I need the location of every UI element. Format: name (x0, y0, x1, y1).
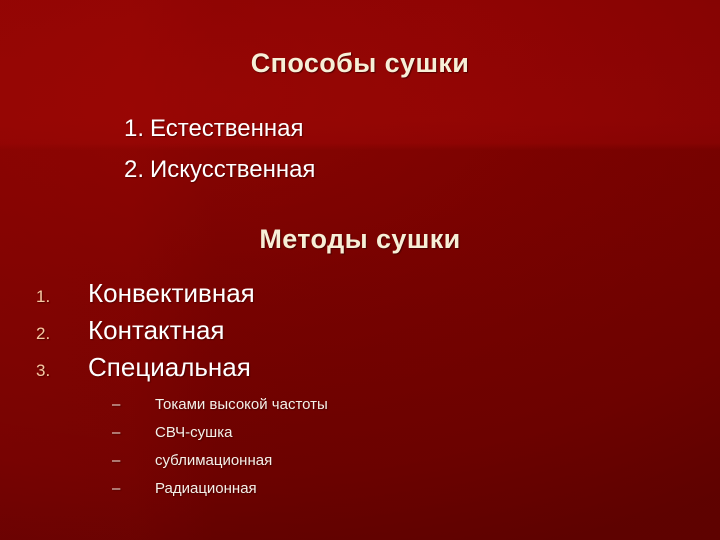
list-item-label: Контактная (88, 315, 225, 346)
list-item-number: 1. (36, 287, 88, 307)
dash-bullet-icon: – (112, 424, 155, 441)
list-item-label: Токами высокой частоты (155, 396, 328, 413)
list-item-label: сублимационная (155, 452, 272, 469)
list-item: 2. Контактная (36, 315, 255, 352)
list-item-label: Конвективная (88, 278, 255, 309)
list-item: – сублимационная (112, 452, 328, 480)
presentation-slide: Способы сушки 1.Естественная 2.Искусстве… (0, 0, 720, 540)
dash-bullet-icon: – (112, 396, 155, 413)
list-item: 1.Естественная (124, 108, 315, 149)
sub-bullet-list: – Токами высокой частоты – СВЧ-сушка – с… (112, 396, 328, 508)
list-item: – СВЧ-сушка (112, 424, 328, 452)
list-item: 3. Специальная (36, 352, 255, 389)
list-item-label: Радиационная (155, 480, 257, 497)
dash-bullet-icon: – (112, 452, 155, 469)
list-item-label: Естественная (150, 115, 303, 142)
list-item-number: 2. (124, 149, 150, 190)
list-item-number: 2. (36, 324, 88, 344)
dash-bullet-icon: – (112, 480, 155, 497)
list-item: – Радиационная (112, 480, 328, 508)
slide-content: Способы сушки 1.Естественная 2.Искусстве… (0, 0, 720, 540)
list-item-number: 1. (124, 108, 150, 149)
list-item-label: СВЧ-сушка (155, 424, 232, 441)
main-ordered-list: 1. Конвективная 2. Контактная 3. Специал… (36, 278, 255, 389)
slide-title-secondary: Методы сушки (0, 224, 720, 255)
slide-title-primary: Способы сушки (0, 48, 720, 79)
top-ordered-list: 1.Естественная 2.Искусственная (124, 108, 315, 190)
list-item: – Токами высокой частоты (112, 396, 328, 424)
list-item-number: 3. (36, 361, 88, 381)
list-item: 2.Искусственная (124, 149, 315, 190)
list-item-label: Искусственная (150, 156, 315, 183)
list-item: 1. Конвективная (36, 278, 255, 315)
list-item-label: Специальная (88, 352, 251, 383)
